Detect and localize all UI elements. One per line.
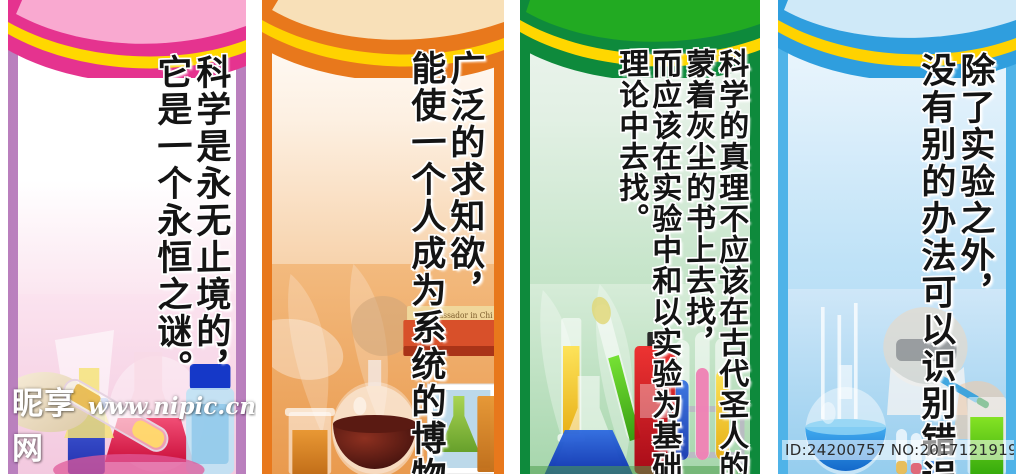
panel-frame: Ambassador in Chi xyxy=(262,0,504,474)
decorative-wave-header xyxy=(262,0,504,78)
decorative-wave-header xyxy=(520,0,760,78)
banner-panel-pink[interactable]: 科学是永无止境的， 它是一个永恒之谜。 昵享网 www.nipic.cn xyxy=(0,0,256,474)
lab-photo-collage: Ambassador in Chi xyxy=(272,264,494,474)
panel-frame: 科学的真理不应该在古代圣人的 蒙着灰尘的书上去找， 而应该在实验中和以实验为基础… xyxy=(520,0,760,474)
poster-canvas: 科学是永无止境的， 它是一个永恒之谜。 昵享网 www.nipic.cn xyxy=(0,0,1024,474)
lab-photo-collage xyxy=(530,284,750,474)
panel-frame: 科学是永无止境的， 它是一个永恒之谜。 xyxy=(8,0,246,474)
banner-panel-orange[interactable]: Ambassador in Chi xyxy=(256,0,512,474)
book-spine-label: Ambassador in Chi xyxy=(421,311,493,320)
lab-photo-collage xyxy=(788,289,1006,474)
lab-photo-collage xyxy=(18,294,236,474)
decorative-wave-header xyxy=(778,0,1016,78)
banner-panel-blue[interactable]: 除了实验之外， 没有别的办法可以识别错误。 ID:24200757 NO:201… xyxy=(768,0,1024,474)
panel-frame: 除了实验之外， 没有别的办法可以识别错误。 xyxy=(778,0,1016,474)
banner-panel-green[interactable]: 科学的真理不应该在古代圣人的 蒙着灰尘的书上去找， 而应该在实验中和以实验为基础… xyxy=(512,0,768,474)
decorative-wave-header xyxy=(8,0,246,78)
